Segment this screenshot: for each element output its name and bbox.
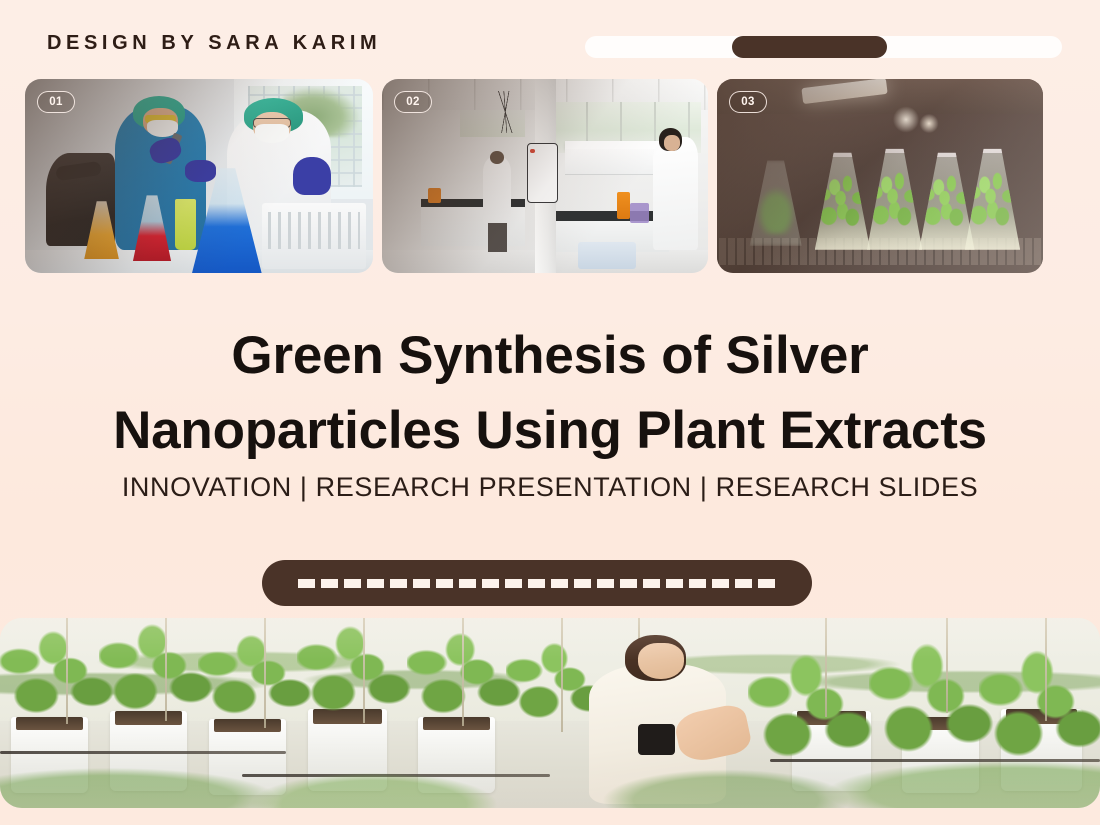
slide-title-line-2: Nanoparticles Using Plant Extracts: [0, 393, 1100, 468]
dashed-placeholder-button[interactable]: [262, 560, 812, 606]
designer-byline: DESIGN BY SARA KARIM: [47, 32, 381, 55]
photo-card-02[interactable]: 02: [382, 79, 708, 273]
photo-card-03[interactable]: 03: [717, 79, 1043, 273]
progress-bar-track[interactable]: [585, 36, 1062, 58]
slide-subtitle: INNOVATION | RESEARCH PRESENTATION | RES…: [0, 472, 1100, 503]
card-badge-02: 02: [394, 91, 432, 113]
dashed-line-graphic: [298, 579, 776, 588]
lab-scientists-photo: [25, 79, 373, 273]
photo-card-row: 01: [25, 79, 1035, 273]
photo-card-01[interactable]: 01: [25, 79, 373, 273]
progress-bar-fill[interactable]: [732, 36, 887, 58]
presentation-slide: DESIGN BY SARA KARIM: [0, 0, 1100, 825]
laboratory-room-photo: [382, 79, 708, 273]
card-badge-01: 01: [37, 91, 75, 113]
plant-culture-flasks-photo: [717, 79, 1043, 273]
card-badge-03: 03: [729, 91, 767, 113]
slide-title-line-1: Green Synthesis of Silver: [0, 318, 1100, 393]
greenhouse-hero-photo: [0, 618, 1100, 808]
slide-title: Green Synthesis of Silver Nanoparticles …: [0, 318, 1100, 469]
